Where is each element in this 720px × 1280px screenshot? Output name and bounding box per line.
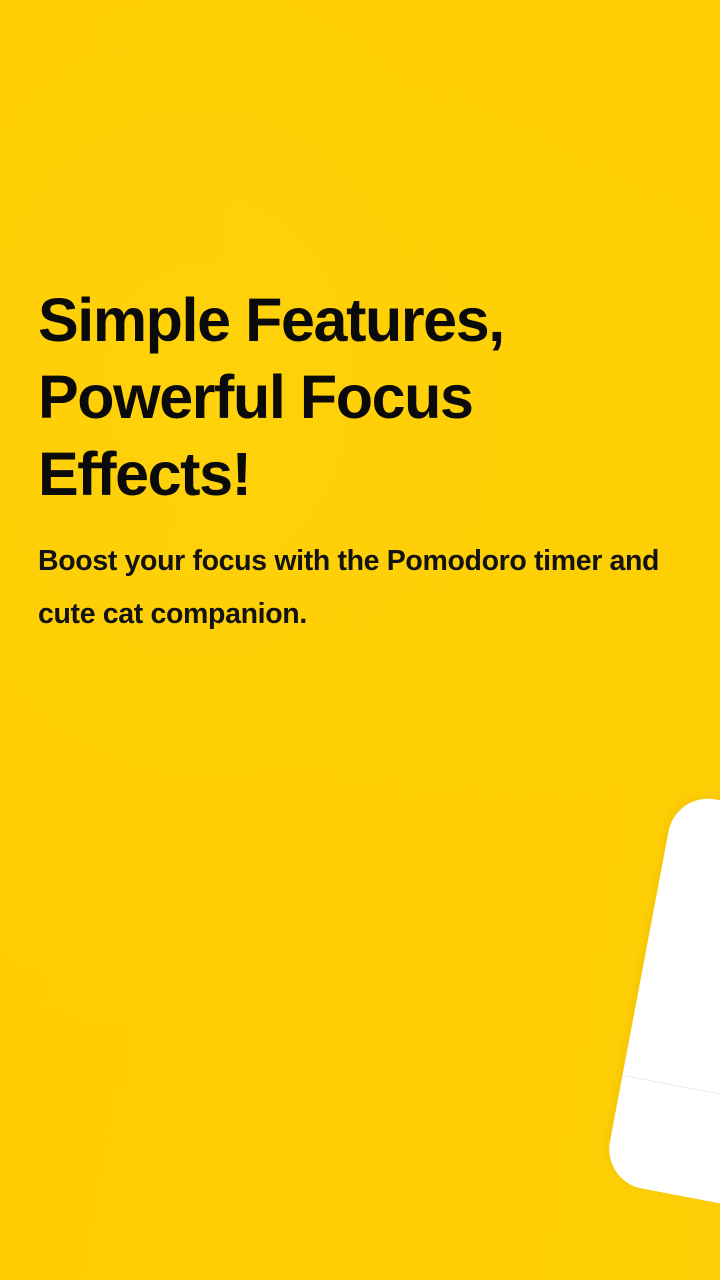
page-title: Simple Features, Powerful Focus Effects!: [38, 282, 568, 513]
onboarding-copy-block: Simple Features, Powerful Focus Effects!…: [38, 282, 678, 641]
phone-mockup-divider: [622, 1075, 720, 1132]
phone-mockup-illustration: [602, 792, 720, 1237]
page-subtitle: Boost your focus with the Pomodoro timer…: [38, 535, 663, 641]
onboarding-screen: Simple Features, Powerful Focus Effects!…: [0, 0, 720, 1280]
